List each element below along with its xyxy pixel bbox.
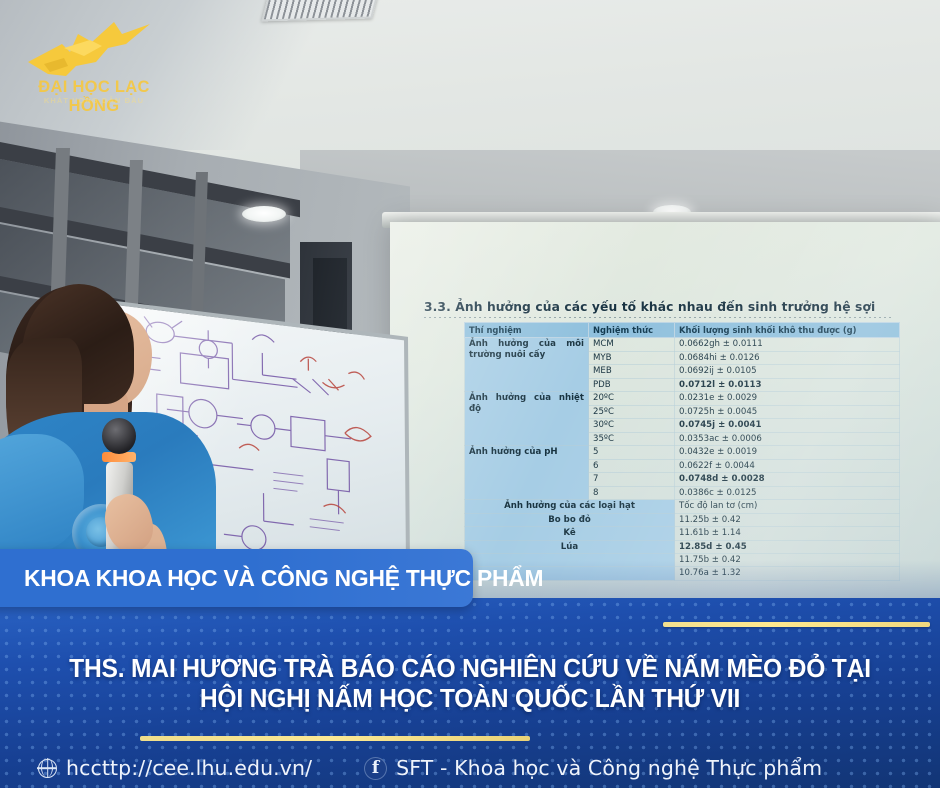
footer-bar: hccttp://cee.lhu.edu.vn/ f SFT - Khoa họ… xyxy=(0,748,940,788)
headline-line-2: HỘI NGHỊ NẤM HỌC TOÀN QUỐC LẦN THỨ VII xyxy=(16,685,923,715)
treatment-cell: MCM xyxy=(589,338,675,351)
table-row: Ảnh hưởng của các loại hạt Tốc độ lan tơ… xyxy=(465,500,900,513)
ceiling-light-icon xyxy=(242,206,286,222)
value-cell: 0.0748d ± 0.0028 xyxy=(675,473,900,486)
accent-rule-top xyxy=(663,622,930,627)
col-dry-biomass: Khối lượng sinh khối khô thu được (g) xyxy=(675,323,900,338)
microphone-icon xyxy=(102,418,136,454)
treatment-cell: 6 xyxy=(589,459,675,472)
slide-divider xyxy=(424,317,894,318)
treatment-cell: 25ºC xyxy=(589,405,675,418)
table-row: Bo bo đỏ 11.25b ± 0.42 xyxy=(465,513,900,526)
group-label: Ảnh hưởng của pH xyxy=(465,446,589,500)
slide-title: 3.3. Ảnh hưởng của các yếu tố khác nhau … xyxy=(424,300,908,314)
col-experiment: Thí nghiệm xyxy=(465,323,589,338)
grain-unit-header: Tốc độ lan tơ (cm) xyxy=(675,500,900,513)
treatment-cell: 7 xyxy=(589,473,675,486)
treatment-cell: MEB xyxy=(589,365,675,378)
event-headline: THS. MAI HƯƠNG TRÀ BÁO CÁO NGHIÊN CỨU VỀ… xyxy=(0,655,940,714)
treatment-cell: PDB xyxy=(589,378,675,391)
grain-group-label: Ảnh hưởng của các loại hạt xyxy=(465,500,675,513)
treatment-cell: 30ºC xyxy=(589,419,675,432)
value-cell: 0.0231e ± 0.0029 xyxy=(675,392,900,405)
facebook-page-name: SFT - Khoa học và Công nghệ Thực phẩm xyxy=(396,756,822,780)
slide-results-table: Thí nghiệm Nghiệm thức Khối lượng sinh k… xyxy=(464,322,900,581)
table-row: Lúa 12.85d ± 0.45 xyxy=(465,540,900,553)
value-cell: 0.0386c ± 0.0125 xyxy=(675,486,900,499)
table-header-row: Thí nghiệm Nghiệm thức Khối lượng sinh k… xyxy=(465,323,900,338)
treatment-cell: MYB xyxy=(589,351,675,364)
value-cell: 0.0353ac ± 0.0006 xyxy=(675,432,900,445)
treatment-cell: Kê xyxy=(465,527,675,540)
value-cell: 0.0432e ± 0.0019 xyxy=(675,446,900,459)
value-cell: 0.0662gh ± 0.0111 xyxy=(675,338,900,351)
group-label: Ảnh hưởng của nhiệt độ xyxy=(465,392,589,446)
value-cell: 0.0692ij ± 0.0105 xyxy=(675,365,900,378)
treatment-cell: 8 xyxy=(589,486,675,499)
poster-canvas: 3.3. Ảnh hưởng của các yếu tố khác nhau … xyxy=(0,0,940,788)
treatment-cell: 5 xyxy=(589,446,675,459)
value-cell: 0.0622f ± 0.0044 xyxy=(675,459,900,472)
facebook-link[interactable]: f SFT - Khoa học và Công nghệ Thực phẩm xyxy=(364,756,822,780)
table-row: Kê 11.61b ± 1.14 xyxy=(465,527,900,540)
treatment-cell: Lúa xyxy=(465,540,675,553)
value-cell: 0.0745j ± 0.0041 xyxy=(675,419,900,432)
value-cell: 0.0725h ± 0.0045 xyxy=(675,405,900,418)
website-url: hccttp://cee.lhu.edu.vn/ xyxy=(66,756,312,780)
presentation-slide: 3.3. Ảnh hưởng của các yếu tố khác nhau … xyxy=(424,300,908,600)
value-cell: 0.0712l ± 0.0113 xyxy=(675,378,900,391)
university-logo: ĐẠI HỌC LẠC HỒNG KHÁT VỌNG DẪN ĐẦU xyxy=(18,18,168,113)
value-cell: 11.25b ± 0.42 xyxy=(675,513,900,526)
value-cell: 12.85d ± 0.45 xyxy=(675,540,900,553)
logo-tagline: KHÁT VỌNG DẪN ĐẦU xyxy=(24,96,164,105)
table-row: Ảnh hưởng của pH 5 0.0432e ± 0.0019 xyxy=(465,446,900,459)
table-row: Ảnh hưởng của môi trường nuôi cấy MCM 0.… xyxy=(465,338,900,351)
col-treatment: Nghiệm thức xyxy=(589,323,675,338)
treatment-cell: 35ºC xyxy=(589,432,675,445)
value-cell: 0.0684hi ± 0.0126 xyxy=(675,351,900,364)
website-link[interactable]: hccttp://cee.lhu.edu.vn/ xyxy=(38,756,312,780)
table-row: Ảnh hưởng của nhiệt độ 20ºC 0.0231e ± 0.… xyxy=(465,392,900,405)
table-body: Ảnh hưởng của môi trường nuôi cấy MCM 0.… xyxy=(465,338,900,581)
facebook-f-icon: f xyxy=(364,757,387,780)
treatment-cell: 20ºC xyxy=(589,392,675,405)
treatment-cell: Bo bo đỏ xyxy=(465,513,675,526)
group-label: Ảnh hưởng của môi trường nuôi cấy xyxy=(465,338,589,392)
headline-line-1: THS. MAI HƯƠNG TRÀ BÁO CÁO NGHIÊN CỨU VỀ… xyxy=(16,655,923,685)
globe-icon xyxy=(38,759,57,778)
value-cell: 11.61b ± 1.14 xyxy=(675,527,900,540)
accent-rule-bottom xyxy=(140,736,530,741)
faculty-ribbon-text: KHOA KHOA HỌC VÀ CÔNG NGHỆ THỰC PHẨM xyxy=(24,565,543,592)
faculty-ribbon: KHOA KHOA HỌC VÀ CÔNG NGHỆ THỰC PHẨM xyxy=(0,549,473,607)
ac-vent-icon xyxy=(261,0,379,21)
